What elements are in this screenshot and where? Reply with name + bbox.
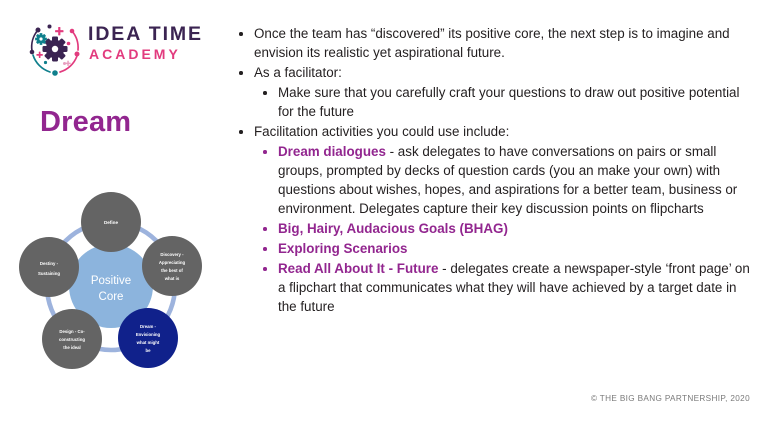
svg-text:Design - Co-: Design - Co- <box>59 329 85 334</box>
activity-bhag-title: Big, Hairy, Audacious Goals (BHAG) <box>278 221 508 236</box>
brand-title: IDEA TIME <box>88 24 203 44</box>
svg-text:Destiny -: Destiny - <box>40 261 59 266</box>
svg-text:the ideal: the ideal <box>63 345 80 350</box>
diagram-node-discovery: Discovery - Appreciating the best of wha… <box>142 236 202 296</box>
bullet-dot-icon <box>239 32 243 36</box>
svg-text:what might: what might <box>136 340 160 345</box>
diagram-node-destiny: Destiny - Sustaining <box>19 237 79 297</box>
diagram-node-define: Define <box>81 192 141 252</box>
activity-exploring-scenarios-title: Exploring Scenarios <box>278 241 407 256</box>
brand-wordmark: IDEA TIME ACADEMY <box>88 24 203 63</box>
activity-exploring-scenarios: Exploring Scenarios <box>254 239 758 258</box>
svg-text:Positive: Positive <box>91 275 131 287</box>
svg-text:Dream -: Dream - <box>140 324 157 329</box>
svg-text:Discovery -: Discovery - <box>160 252 184 257</box>
bullet-list-level1: Once the team has “discovered” its posit… <box>232 24 758 316</box>
svg-text:what is: what is <box>164 276 180 281</box>
bullet-activities-text: Facilitation activities you could use in… <box>254 124 509 139</box>
bullet-dot-icon <box>263 227 267 231</box>
svg-text:Core: Core <box>99 291 124 303</box>
activity-dream-dialogues: Dream dialogues - ask delegates to have … <box>254 142 758 218</box>
svg-text:Sustaining: Sustaining <box>38 271 60 276</box>
bullet-dot-icon <box>239 71 243 75</box>
atom-sparkle-icon <box>24 18 86 78</box>
bullet-dot-icon <box>263 91 267 95</box>
bullet-activities: Facilitation activities you could use in… <box>232 122 758 141</box>
brand-logo: IDEA TIME ACADEMY <box>24 18 220 78</box>
diagram-node-dream: Dream - Envisioning what might be <box>118 308 178 368</box>
bullet-dot-icon <box>263 247 267 251</box>
svg-text:Appreciating: Appreciating <box>159 260 186 265</box>
activity-read-all-about-it: Read All About It - Future - delegates c… <box>254 259 758 316</box>
page-title: Dream <box>40 106 131 139</box>
bullet-facilitator-sub: Make sure that you carefully craft your … <box>254 83 758 121</box>
activity-read-all-about-it-title: Read All About It - Future <box>278 261 438 276</box>
appreciative-inquiry-diagram: Positive Core Define Discovery - Appreci… <box>8 192 214 380</box>
copyright-footer: © THE BIG BANG PARTNERSHIP, 2020 <box>591 394 750 403</box>
brand-subtitle: ACADEMY <box>89 47 203 62</box>
content-body: Once the team has “discovered” its posit… <box>232 24 758 317</box>
bullet-facilitator: As a facilitator: <box>232 63 758 82</box>
bullet-dot-icon <box>263 267 267 271</box>
slide: IDEA TIME ACADEMY Dream Positive Core De… <box>0 0 768 425</box>
bullet-intro: Once the team has “discovered” its posit… <box>232 24 758 62</box>
diagram-node-design: Design - Co- constructing the ideal <box>42 309 102 369</box>
left-column: IDEA TIME ACADEMY Dream Positive Core De… <box>0 0 226 425</box>
bullet-facilitator-text: As a facilitator: <box>254 65 342 80</box>
svg-text:Envisioning: Envisioning <box>136 332 161 337</box>
bullet-intro-text: Once the team has “discovered” its posit… <box>254 26 730 60</box>
bullet-facilitator-sub-text: Make sure that you carefully craft your … <box>278 85 739 119</box>
activity-dream-dialogues-title: Dream dialogues <box>278 144 386 159</box>
svg-text:Define: Define <box>104 220 118 225</box>
svg-text:the best of: the best of <box>161 268 183 273</box>
svg-text:constructing: constructing <box>59 337 85 342</box>
svg-text:be: be <box>145 348 151 353</box>
activity-bhag: Big, Hairy, Audacious Goals (BHAG) <box>254 219 758 238</box>
bullet-dot-icon <box>239 130 243 134</box>
bullet-dot-icon <box>263 150 267 154</box>
